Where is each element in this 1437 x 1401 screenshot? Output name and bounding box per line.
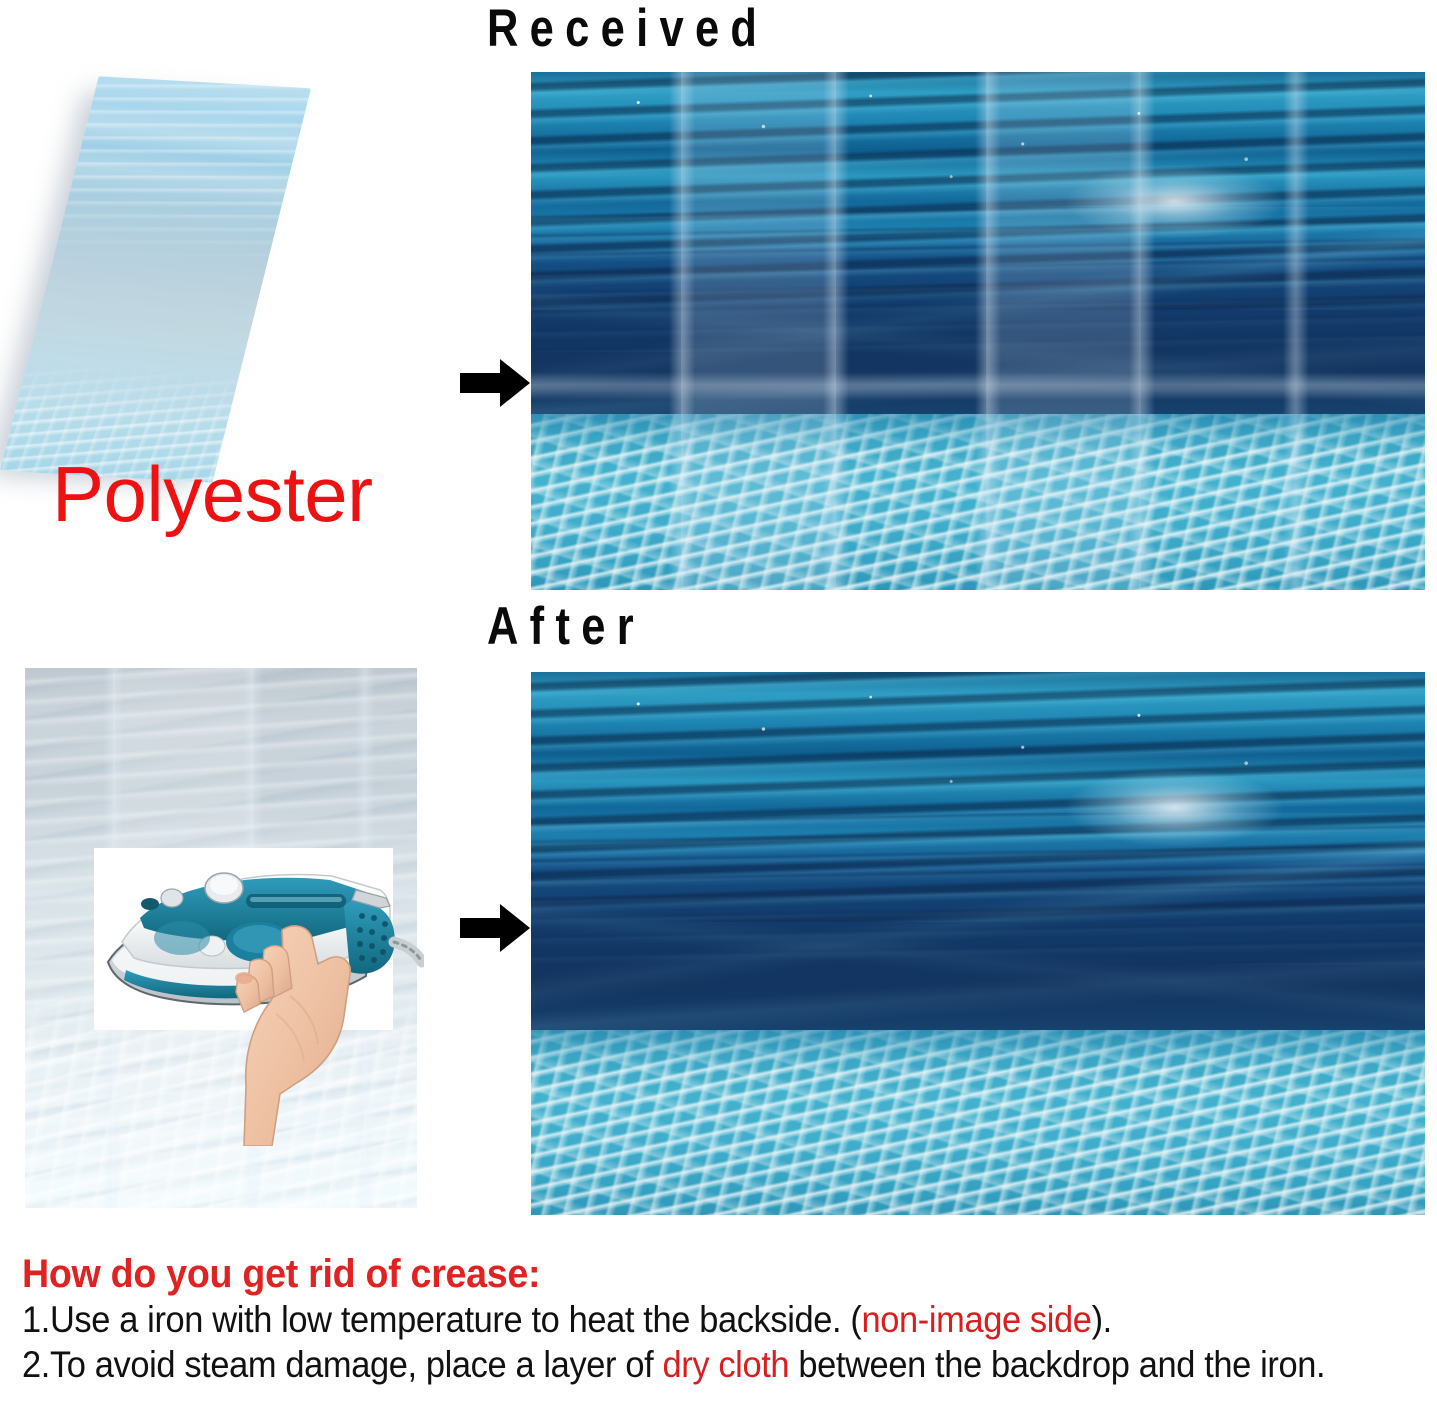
bubbles-after [531,672,1425,900]
seabed-caustics-after [531,1030,1425,1215]
fabric-swatch [0,76,311,482]
seabed [531,414,1425,590]
seabed-caustics [531,414,1425,590]
sun-glint-after [1067,770,1282,846]
care-step-2-text-before: To avoid steam damage, place a layer of [50,1344,663,1385]
right-arrow-icon [458,355,532,411]
bubbles [531,72,1425,290]
care-step-1-highlight: non-image side [861,1299,1091,1340]
infographic-page: Received Polyester Aft [0,0,1437,1401]
care-instructions: How do you get rid of crease: 1.Use a ir… [22,1252,1422,1387]
care-step-2: 2.To avoid steam damage, place a layer o… [22,1342,1324,1387]
backdrop-photo-after [531,672,1425,1215]
care-heading: How do you get rid of crease: [22,1252,1338,1297]
seabed-after [531,1030,1425,1215]
care-step-2-number: 2. [22,1344,50,1385]
steam-iron-icon [94,846,424,1146]
section-title-after: After [487,600,645,653]
care-step-2-text-after: between the backdrop and the iron. [789,1344,1325,1385]
care-step-1-number: 1. [22,1299,50,1340]
backdrop-photo-received [531,72,1425,590]
care-step-1-text-before: Use a iron with low temperature to heat … [50,1299,862,1340]
section-title-received: Received [487,2,768,55]
care-step-1-text-after: ). [1092,1299,1112,1340]
sun-glint [1067,165,1282,238]
care-step-1: 1.Use a iron with low temperature to hea… [22,1297,1324,1342]
polyester-label: Polyester [52,455,373,533]
care-step-2-highlight: dry cloth [662,1344,789,1385]
right-arrow-icon-bottom [458,900,532,956]
